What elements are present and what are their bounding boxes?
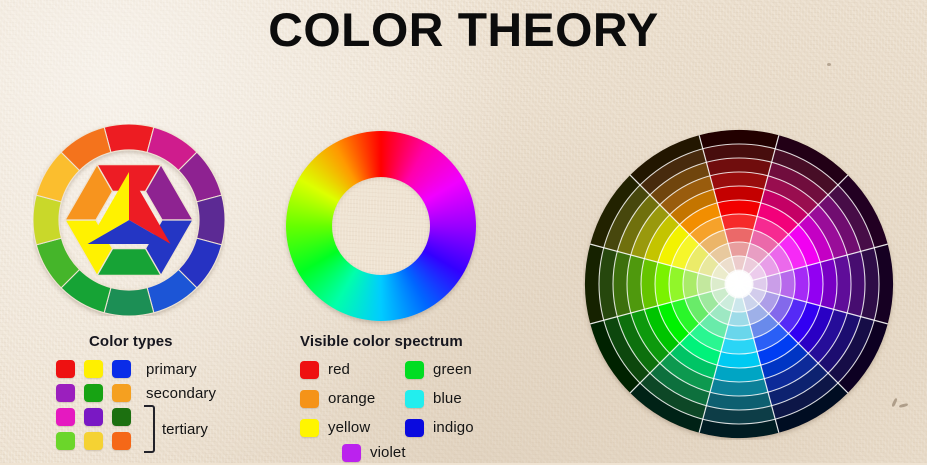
legend-label-red: red <box>328 361 350 378</box>
swatch-tertiary-6 <box>112 432 131 450</box>
swatch-primary-2 <box>84 360 103 378</box>
tint-shade-wheel <box>583 128 895 440</box>
legend-item-violet: violet <box>300 440 515 465</box>
legend-item-indigo: indigo <box>405 415 510 440</box>
legend-item-blue: blue <box>405 386 510 411</box>
page-title: COLOR THEORY <box>0 2 927 57</box>
legend-label-secondary: secondary <box>146 385 216 402</box>
tertiary-swatch-rows <box>56 405 140 453</box>
legend-row-secondary: secondary <box>56 381 271 405</box>
legend-label-yellow: yellow <box>328 419 370 436</box>
legend-color-types: Color types primary secondary tertiary <box>56 333 271 453</box>
swatch-secondary-1 <box>56 384 75 402</box>
tint-wheel-svg <box>583 128 895 440</box>
visible-spectrum-ring <box>286 131 476 321</box>
legend-label-blue: blue <box>433 390 462 407</box>
swatch-yellow <box>300 419 319 437</box>
legend-row-primary: primary <box>56 357 271 381</box>
itten-color-wheel <box>33 124 225 316</box>
swatch-indigo <box>405 419 424 437</box>
legend-visible-spectrum: Visible color spectrum red green orange … <box>300 333 515 465</box>
spectrum-legend-grid: red green orange blue yellow indigo <box>300 357 515 440</box>
legend-color-types-title: Color types <box>56 333 271 350</box>
tertiary-swatch-row-2 <box>56 429 140 453</box>
swatch-tertiary-5 <box>84 432 103 450</box>
legend-item-yellow: yellow <box>300 415 405 440</box>
swatch-green <box>405 361 424 379</box>
legend-item-orange: orange <box>300 386 405 411</box>
swatch-secondary-2 <box>84 384 103 402</box>
legend-label-tertiary: tertiary <box>162 421 208 438</box>
swatch-tertiary-2 <box>84 408 103 426</box>
swatch-tertiary-3 <box>112 408 131 426</box>
legend-label-primary: primary <box>146 361 197 378</box>
legend-row-tertiary: tertiary <box>56 405 271 453</box>
swatch-primary-3 <box>112 360 131 378</box>
legend-label-indigo: indigo <box>433 419 474 436</box>
swatch-blue <box>405 390 424 408</box>
legend-label-violet: violet <box>370 444 406 461</box>
itten-wheel-svg <box>33 124 225 316</box>
swatch-red <box>300 361 319 379</box>
tertiary-bracket <box>144 405 155 453</box>
legend-label-orange: orange <box>328 390 375 407</box>
swatch-violet <box>342 444 361 462</box>
legend-item-red: red <box>300 357 405 382</box>
spectrum-ring-center-hole <box>332 177 431 276</box>
swatch-tertiary-1 <box>56 408 75 426</box>
tertiary-swatch-row-1 <box>56 405 140 429</box>
legend-label-green: green <box>433 361 472 378</box>
swatch-secondary-3 <box>112 384 131 402</box>
swatch-tertiary-4 <box>56 432 75 450</box>
swatch-primary-1 <box>56 360 75 378</box>
paper-speck <box>827 63 831 66</box>
legend-item-green: green <box>405 357 510 382</box>
legend-spectrum-title: Visible color spectrum <box>300 333 515 350</box>
swatch-orange <box>300 390 319 408</box>
